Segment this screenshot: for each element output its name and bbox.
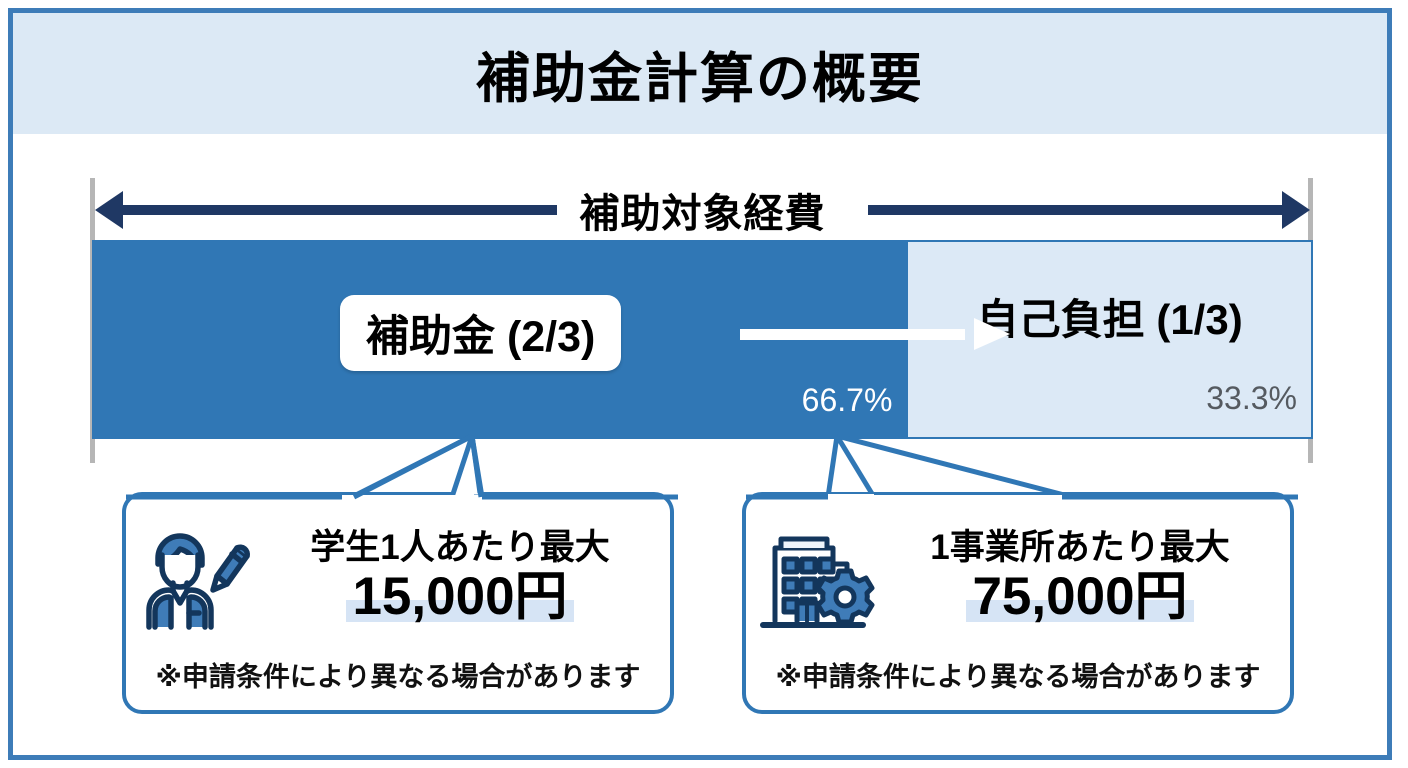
arrow-shaft-left — [117, 205, 557, 215]
subsidy-arrow-head — [974, 318, 1010, 350]
bar-segment-subsidy[interactable]: 補助金 (2/3) 66.7% — [92, 240, 906, 439]
card-heading-office: 1事業所あたり最大 — [886, 530, 1274, 567]
callout-tail-right-icon — [742, 431, 1302, 501]
arrow-shaft-right — [868, 205, 1288, 215]
card-body-office: 1事業所あたり最大 75,000円 — [746, 512, 1290, 642]
card-heading-student: 学生1人あたり最大 — [266, 530, 654, 567]
header-band: 補助金計算の概要 — [13, 13, 1387, 134]
subsidy-percent: 66.7% — [802, 382, 893, 419]
card-note-office: ※申請条件により異なる場合があります — [746, 655, 1290, 694]
card-text-office: 1事業所あたり最大 75,000円 — [886, 530, 1290, 624]
subsidy-label: 補助金 (2/3) — [366, 302, 595, 364]
total-range-label: 補助対象経費 — [566, 181, 840, 239]
subsidy-arrow-shaft — [740, 329, 965, 340]
page-title: 補助金計算の概要 — [476, 34, 924, 113]
card-amount-office: 75,000円 — [886, 569, 1274, 625]
arrow-head-right-icon — [1282, 191, 1310, 229]
callout-tail-left-icon — [122, 431, 682, 501]
student-icon — [126, 517, 266, 637]
card-amount-student: 15,000円 — [266, 569, 654, 625]
callout-card-student[interactable]: 学生1人あたり最大 15,000円 ※申請条件により異なる場合があります — [122, 492, 674, 714]
self-percent: 33.3% — [1206, 380, 1297, 417]
card-note-student: ※申請条件により異なる場合があります — [126, 655, 670, 694]
slide-canvas: 補助金計算の概要 補助対象経費 補助金 (2/3) 66.7% 自己負担 (1/… — [0, 0, 1408, 768]
subsidy-label-pill: 補助金 (2/3) — [340, 295, 621, 371]
subsidy-pointer-arrow-icon — [740, 323, 1010, 345]
card-text-student: 学生1人あたり最大 15,000円 — [266, 530, 670, 624]
total-range-arrow: 補助対象経費 — [95, 181, 1310, 239]
callout-card-office[interactable]: 1事業所あたり最大 75,000円 ※申請条件により異なる場合があります — [742, 492, 1294, 714]
card-body-student: 学生1人あたり最大 15,000円 — [126, 512, 670, 642]
stacked-bar: 補助金 (2/3) 66.7% 自己負担 (1/3) 33.3% — [92, 240, 1313, 439]
office-gear-icon — [746, 517, 886, 637]
